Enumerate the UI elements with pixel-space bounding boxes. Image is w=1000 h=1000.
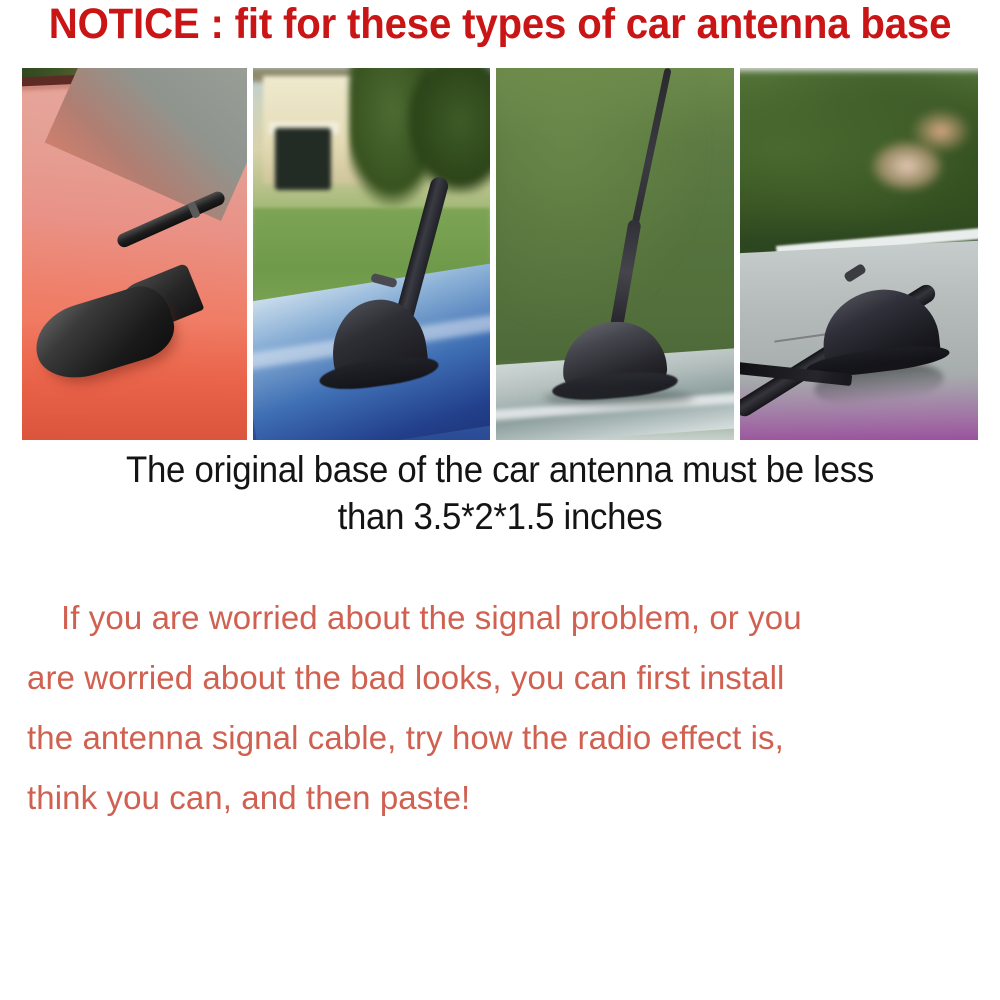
- advice-line-3: the antenna signal cable, try how the ra…: [27, 708, 973, 768]
- size-caption-line-2: than 3.5*2*1.5 inches: [30, 493, 970, 540]
- advice-line-1: If you are worried about the signal prob…: [27, 588, 973, 648]
- antenna-shadow: [544, 390, 694, 406]
- blossom-cluster-right: [910, 108, 972, 154]
- house-door: [275, 128, 331, 190]
- notice-title: NOTICE : fit for these types of car ante…: [33, 0, 968, 50]
- size-caption-line-1: The original base of the car antenna mus…: [30, 446, 970, 493]
- advice-line-2: are worried about the bad looks, you can…: [27, 648, 973, 708]
- tree-foliage-right: [406, 68, 490, 194]
- photo-strip: [22, 68, 978, 440]
- antenna-photo-1: [22, 68, 247, 440]
- antenna-photo-4: [740, 68, 978, 440]
- advice-line-4: think you can, and then paste!: [27, 768, 973, 828]
- size-caption: The original base of the car antenna mus…: [30, 446, 970, 540]
- antenna-photo-3: [496, 68, 733, 440]
- advice-paragraph: If you are worried about the signal prob…: [27, 588, 973, 828]
- notice-page: NOTICE : fit for these types of car ante…: [0, 0, 1000, 1000]
- antenna-photo-2: [253, 68, 490, 440]
